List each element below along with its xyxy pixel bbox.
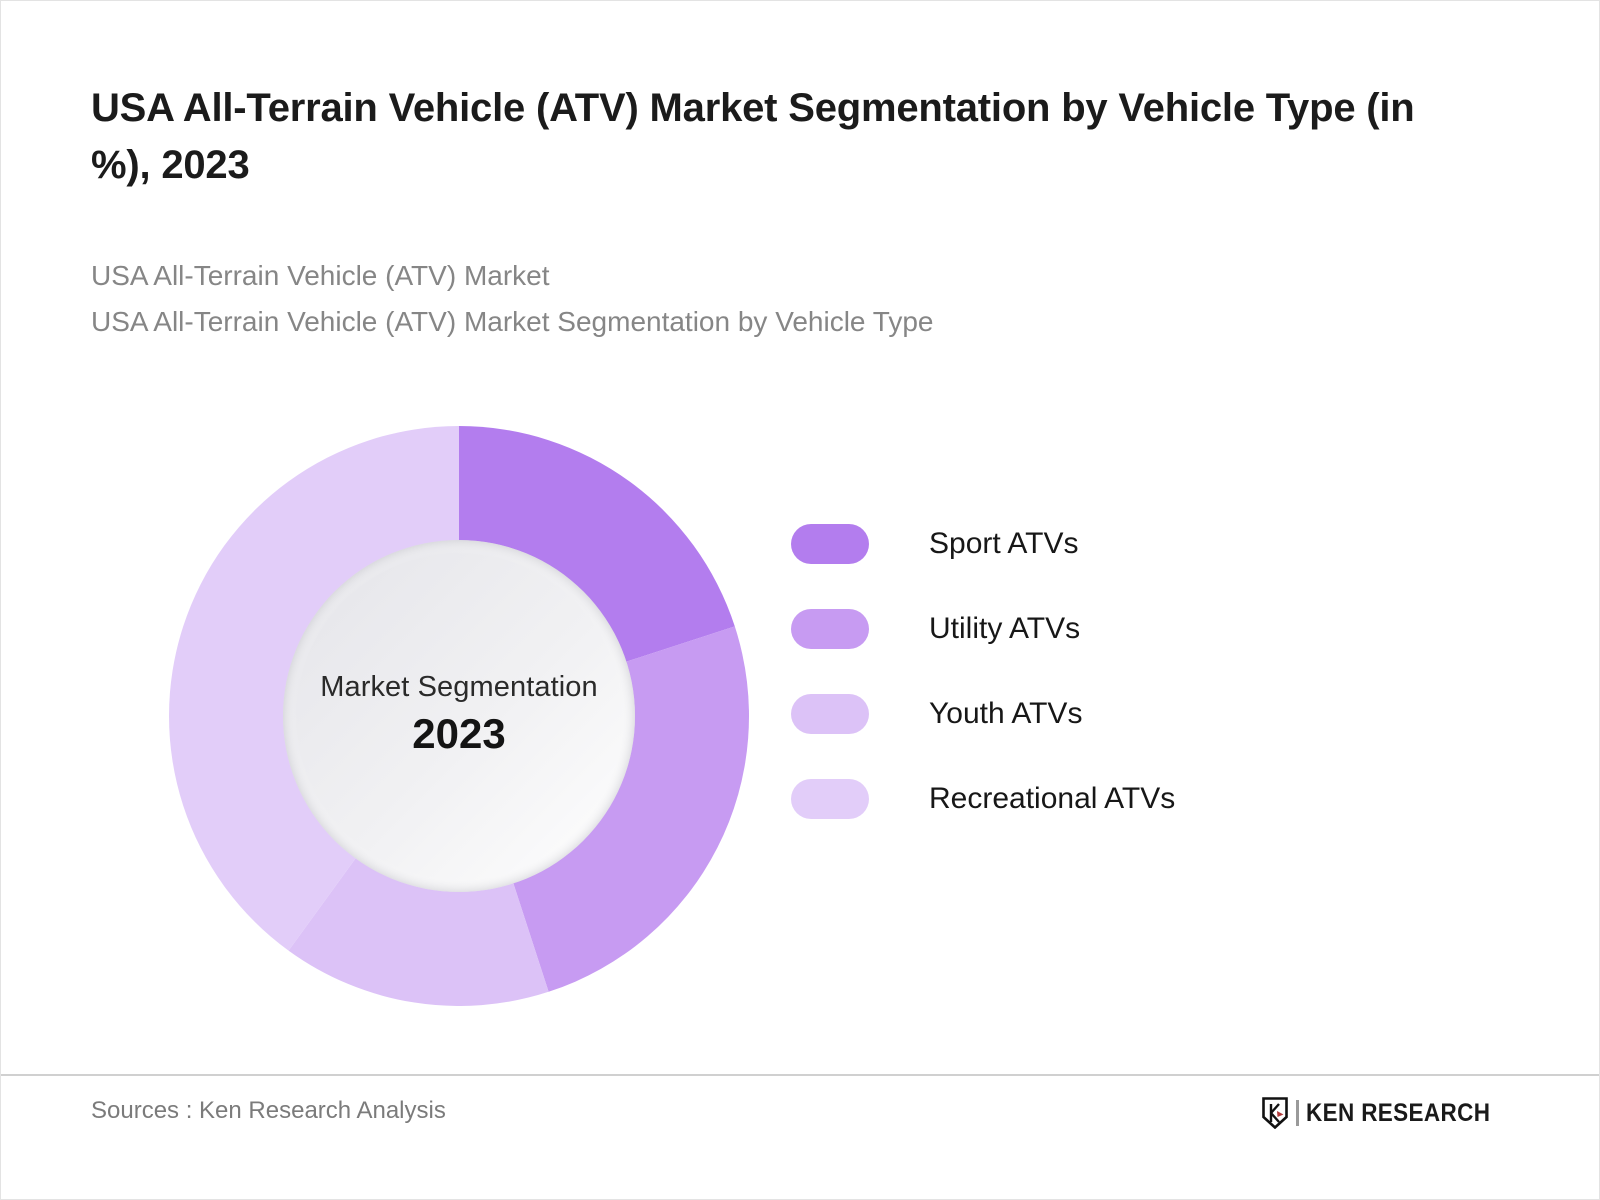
chart-area: Market Segmentation 2023 Sport ATVsUtili…	[91, 401, 1471, 1041]
donut-chart: Market Segmentation 2023	[169, 426, 749, 1006]
legend-label: Sport ATVs	[929, 527, 1079, 561]
subtitle-line-2: USA All-Terrain Vehicle (ATV) Market Seg…	[91, 299, 1391, 345]
legend-swatch	[791, 609, 869, 649]
footer-divider	[1, 1074, 1599, 1076]
slide-canvas: USA All-Terrain Vehicle (ATV) Market Seg…	[0, 0, 1600, 1200]
legend-swatch	[791, 694, 869, 734]
legend-item[interactable]: Recreational ATVs	[791, 756, 1431, 841]
donut-chart-svg	[169, 426, 749, 1006]
source-note: Sources : Ken Research Analysis	[91, 1097, 446, 1125]
legend-swatch	[791, 779, 869, 819]
brand-divider	[1296, 1100, 1299, 1126]
donut-hole-shading	[283, 540, 635, 892]
subtitle-block: USA All-Terrain Vehicle (ATV) Market USA…	[91, 253, 1391, 346]
chart-legend: Sport ATVsUtility ATVsYouth ATVsRecreati…	[791, 501, 1431, 841]
legend-item[interactable]: Youth ATVs	[791, 671, 1431, 756]
legend-label: Utility ATVs	[929, 612, 1080, 646]
legend-item[interactable]: Sport ATVs	[791, 501, 1431, 586]
ken-research-shield-icon	[1262, 1097, 1288, 1129]
legend-item[interactable]: Utility ATVs	[791, 586, 1431, 671]
legend-label: Recreational ATVs	[929, 782, 1175, 816]
legend-swatch	[791, 524, 869, 564]
subtitle-line-1: USA All-Terrain Vehicle (ATV) Market	[91, 253, 1391, 299]
brand-name: KEN RESEARCH	[1306, 1099, 1490, 1128]
brand-logo: KEN RESEARCH	[1262, 1097, 1511, 1129]
legend-label: Youth ATVs	[929, 697, 1082, 731]
page-title: USA All-Terrain Vehicle (ATV) Market Seg…	[91, 80, 1451, 194]
